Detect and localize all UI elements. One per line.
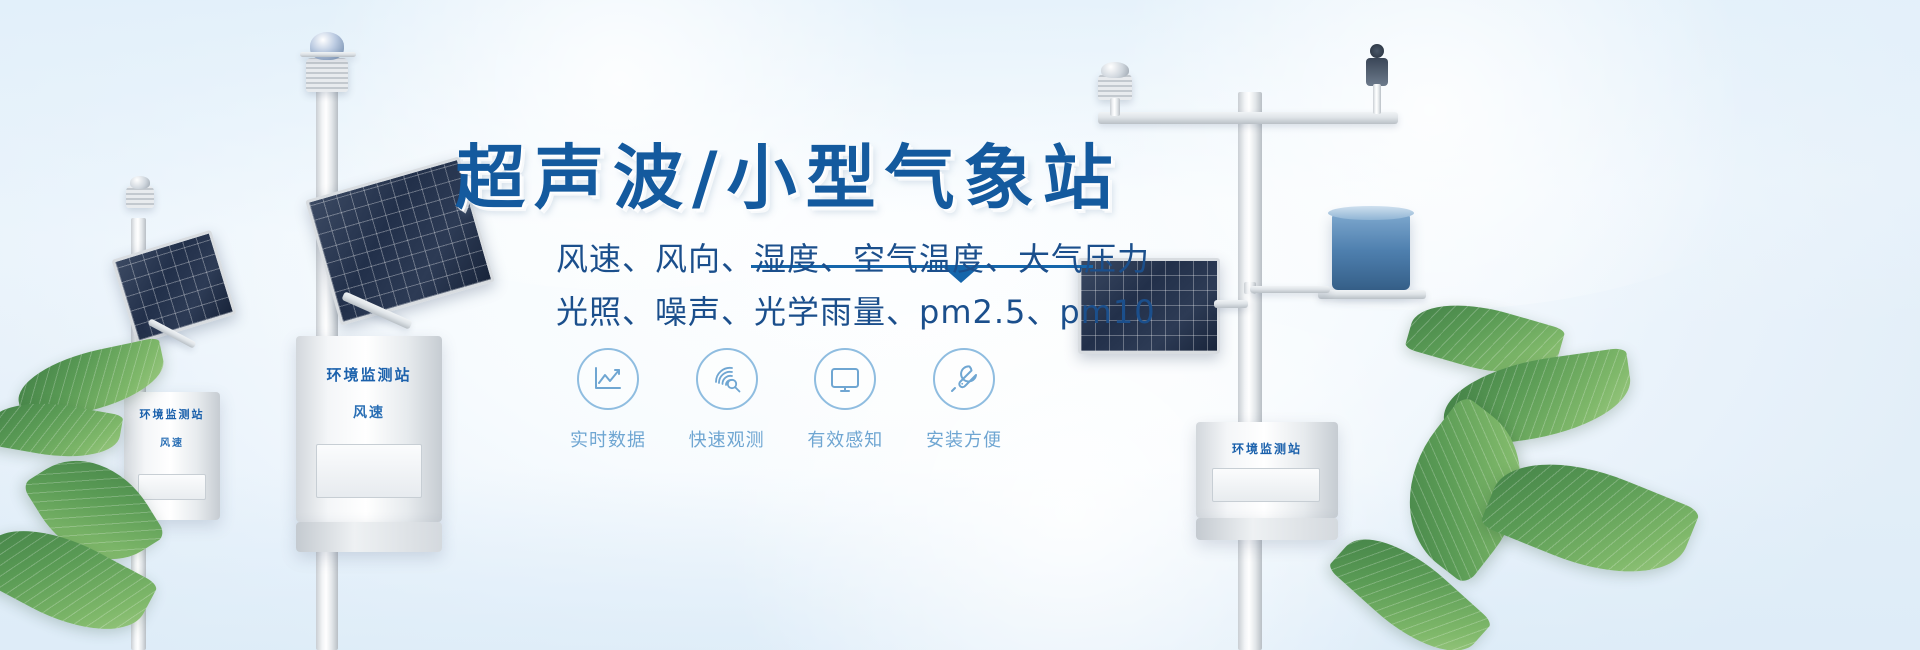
line-chart-icon [591, 362, 625, 396]
subtitle-line-2: 光照、噪声、光学雨量、pm2.5、pm10 [556, 287, 1156, 333]
wrench-icon [947, 362, 981, 396]
feature-item-effective-sensing[interactable]: 有效感知 [793, 348, 897, 452]
feature-icon-circle [814, 348, 876, 410]
feature-icon-circle [696, 348, 758, 410]
feature-item-fast-observation[interactable]: 快速观测 [675, 348, 779, 452]
product-hero-banner: 环境监测站 风速 环境监测站 风速 [0, 0, 1920, 650]
feature-item-realtime-data[interactable]: 实时数据 [556, 348, 660, 452]
feature-item-easy-install[interactable]: 安装方便 [912, 348, 1016, 452]
radar-signal-icon [710, 362, 744, 396]
monitor-icon [828, 362, 862, 396]
feature-label: 安装方便 [926, 426, 1002, 452]
feature-icon-circle [933, 348, 995, 410]
feature-icon-circle [577, 348, 639, 410]
feature-list: 实时数据 快速观测 [556, 348, 1016, 458]
feature-label: 快速观测 [689, 426, 765, 452]
feature-label: 有效感知 [807, 426, 883, 452]
subtitle-line-1: 风速、风向、湿度、空气温度、大气压力 [556, 234, 1150, 280]
feature-label: 实时数据 [570, 426, 646, 452]
banner-copy: 超声波/小型气象站 风速、风向、湿度、空气温度、大气压力 光照、噪声、光学雨量、… [0, 0, 1920, 650]
page-title: 超声波/小型气象站 [455, 122, 1122, 223]
